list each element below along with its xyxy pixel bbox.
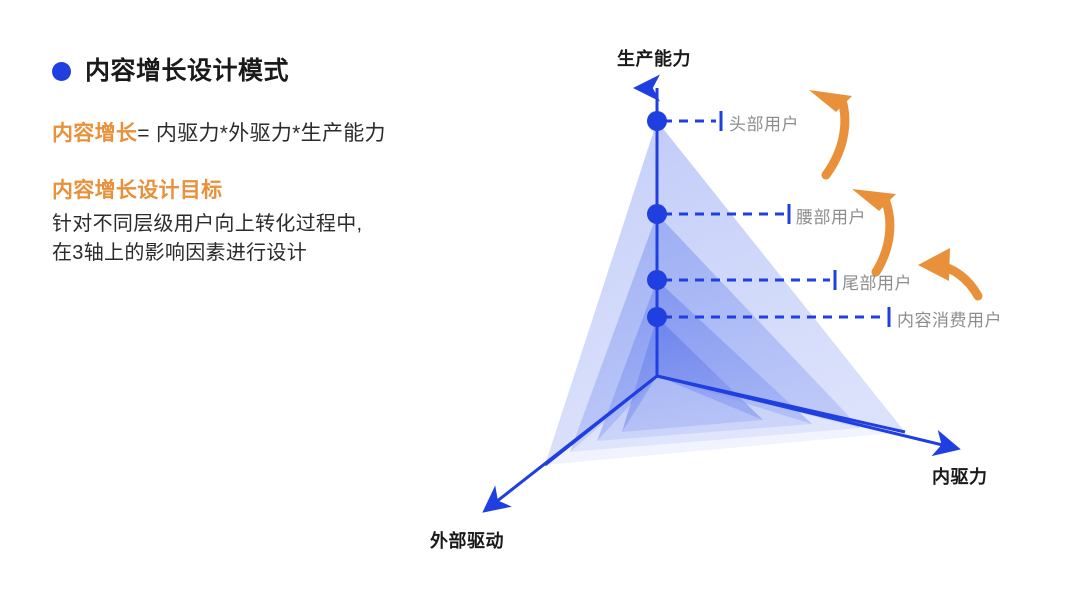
axis-label-internal-drive: 内驱力 <box>932 463 988 489</box>
tier-label-head-users: 头部用户 <box>729 110 799 135</box>
tier-label-content-consumer-users: 内容消费用户 <box>897 306 1002 331</box>
tier-label-waist-users: 腰部用户 <box>796 203 866 228</box>
curved-arrow-up-left-icon-1 <box>809 90 852 175</box>
slide-canvas: 内容增长设计模式 内容增长= 内驱力*外驱力*生产能力 内容增长设计目标 针对不… <box>0 0 1080 602</box>
tier-tail-node <box>647 270 667 290</box>
upward-conversion-arrows <box>809 90 978 296</box>
tier-label-tail-users: 尾部用户 <box>842 269 912 294</box>
curved-arrow-up-left-icon-2 <box>852 189 896 272</box>
growth-model-diagram: 生产能力 内驱力 外部驱动 头部用户 腰部用户 尾部用户 内容消费用户 <box>0 0 1080 602</box>
diagram-svg <box>0 0 1080 602</box>
tier-waist-node <box>647 204 667 224</box>
tier-head-node <box>647 111 667 131</box>
curved-arrow-left-icon-3 <box>918 248 978 296</box>
axis-label-production-capability: 生产能力 <box>617 45 691 71</box>
axis-label-external-drive: 外部驱动 <box>430 527 504 553</box>
tier-consumer-node <box>647 307 667 327</box>
